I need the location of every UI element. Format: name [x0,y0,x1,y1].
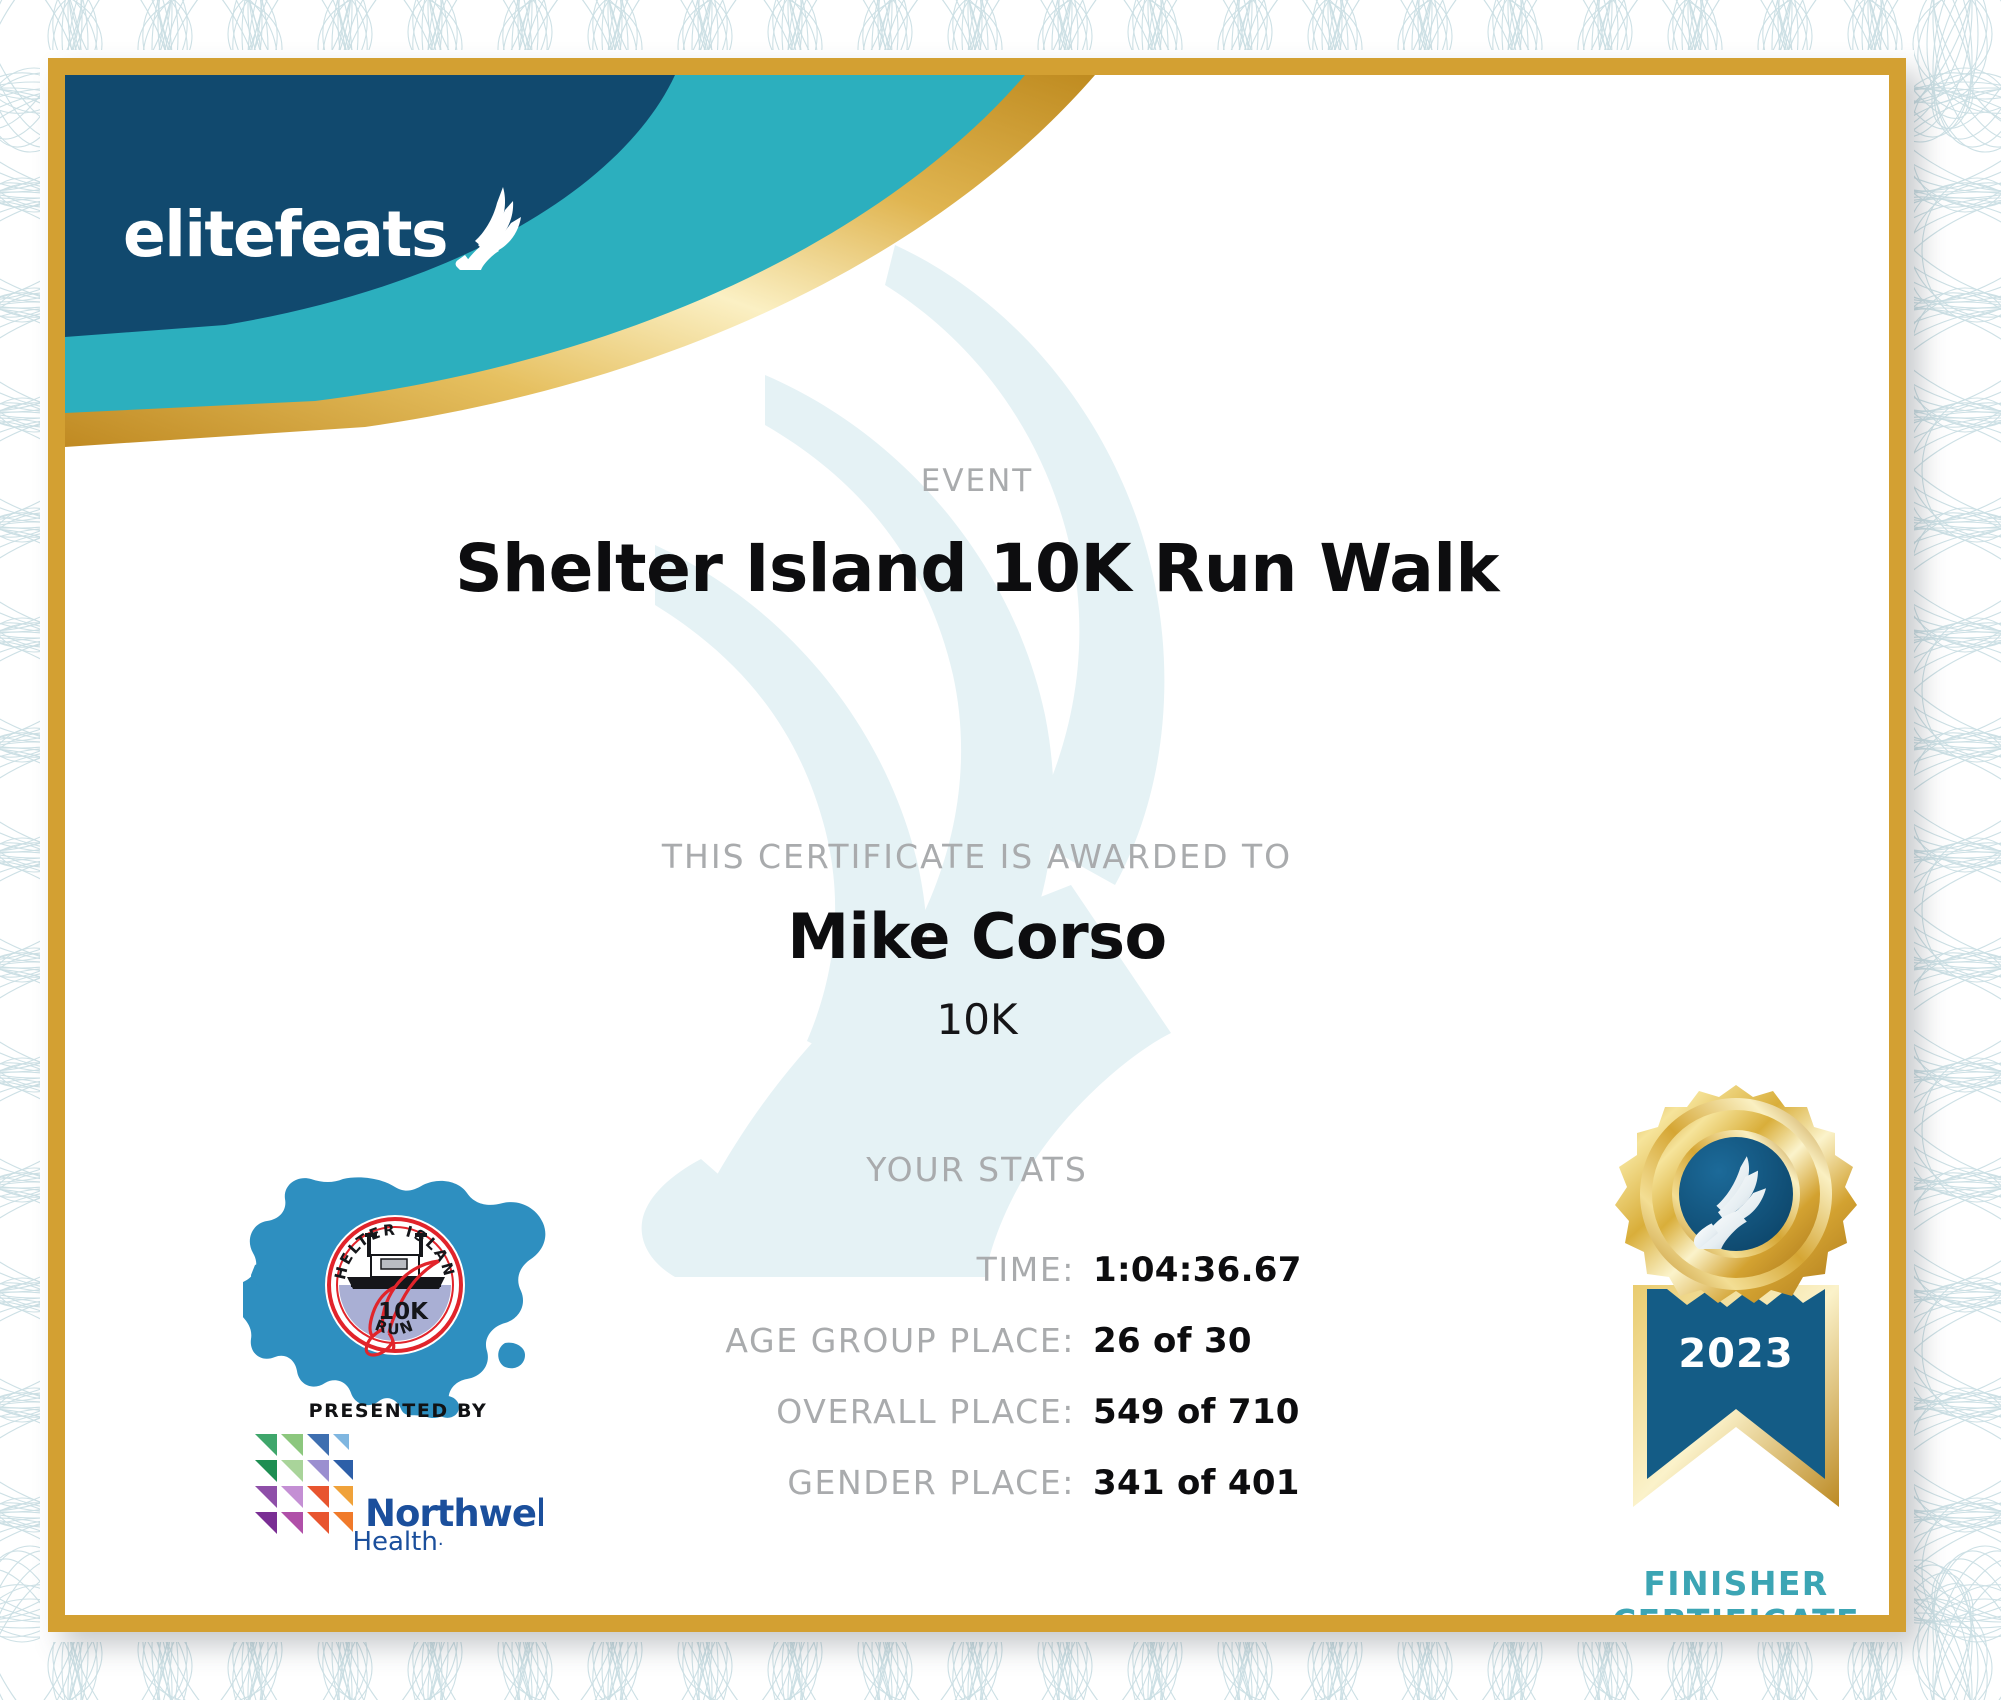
stat-label-time: TIME: [65,1250,1075,1289]
medal-ribbon: 2023 [1633,1285,1839,1507]
stat-label-gender-place: GENDER PLACE: [65,1463,1075,1502]
stat-value-time: 1:04:36.67 [1093,1250,1302,1290]
awardee-name: Mike Corso [65,900,1889,973]
elitefeats-logo: elitefeats [123,185,529,265]
brand-wordmark: elitefeats [123,205,447,265]
stat-label-overall-place: OVERALL PLACE: [65,1392,1075,1431]
presented-by-label: PRESENTED BY [243,1400,553,1422]
shelter-island-10k-run-logo-icon: SHELTER ISLAND RUN 10K [243,1173,553,1423]
finisher-caption-line2: CERTIFICATE [1612,1602,1860,1615]
finisher-caption-line1: FINISHER [1643,1564,1828,1603]
event-label: EVENT [65,463,1889,499]
awarded-to-label: THIS CERTIFICATE IS AWARDED TO [65,837,1889,876]
sponsor-trademark-mark: · [438,1534,444,1555]
gold-frame-border: elitefeats [48,58,1906,1632]
awardee-division: 10K [65,995,1889,1044]
finisher-certificate-caption: FINISHER CERTIFICATE [1551,1565,1889,1615]
winged-foot-icon [451,185,529,271]
stat-value-overall-place: 549 of 710 [1093,1392,1300,1432]
event-name: Shelter Island 10K Run Walk [65,530,1889,607]
medal-rosette [1615,1085,1857,1303]
race-logo-center-text: 10K [378,1299,429,1325]
sponsor-name-line2: Health· [243,1527,553,1557]
stat-value-age-group-place: 26 of 30 [1093,1321,1252,1361]
stat-label-age-group-place: AGE GROUP PLACE: [65,1321,1075,1360]
gold-rosette-medal-icon: 2023 [1571,1075,1889,1555]
medal-ribbon-year: 2023 [1678,1331,1793,1377]
stat-value-gender-place: 341 of 401 [1093,1463,1300,1503]
certificate-page: elitefeats [0,0,2001,1700]
northwell-health-logo-icon: Northwell [243,1430,553,1540]
certificate-card: elitefeats [65,75,1889,1615]
